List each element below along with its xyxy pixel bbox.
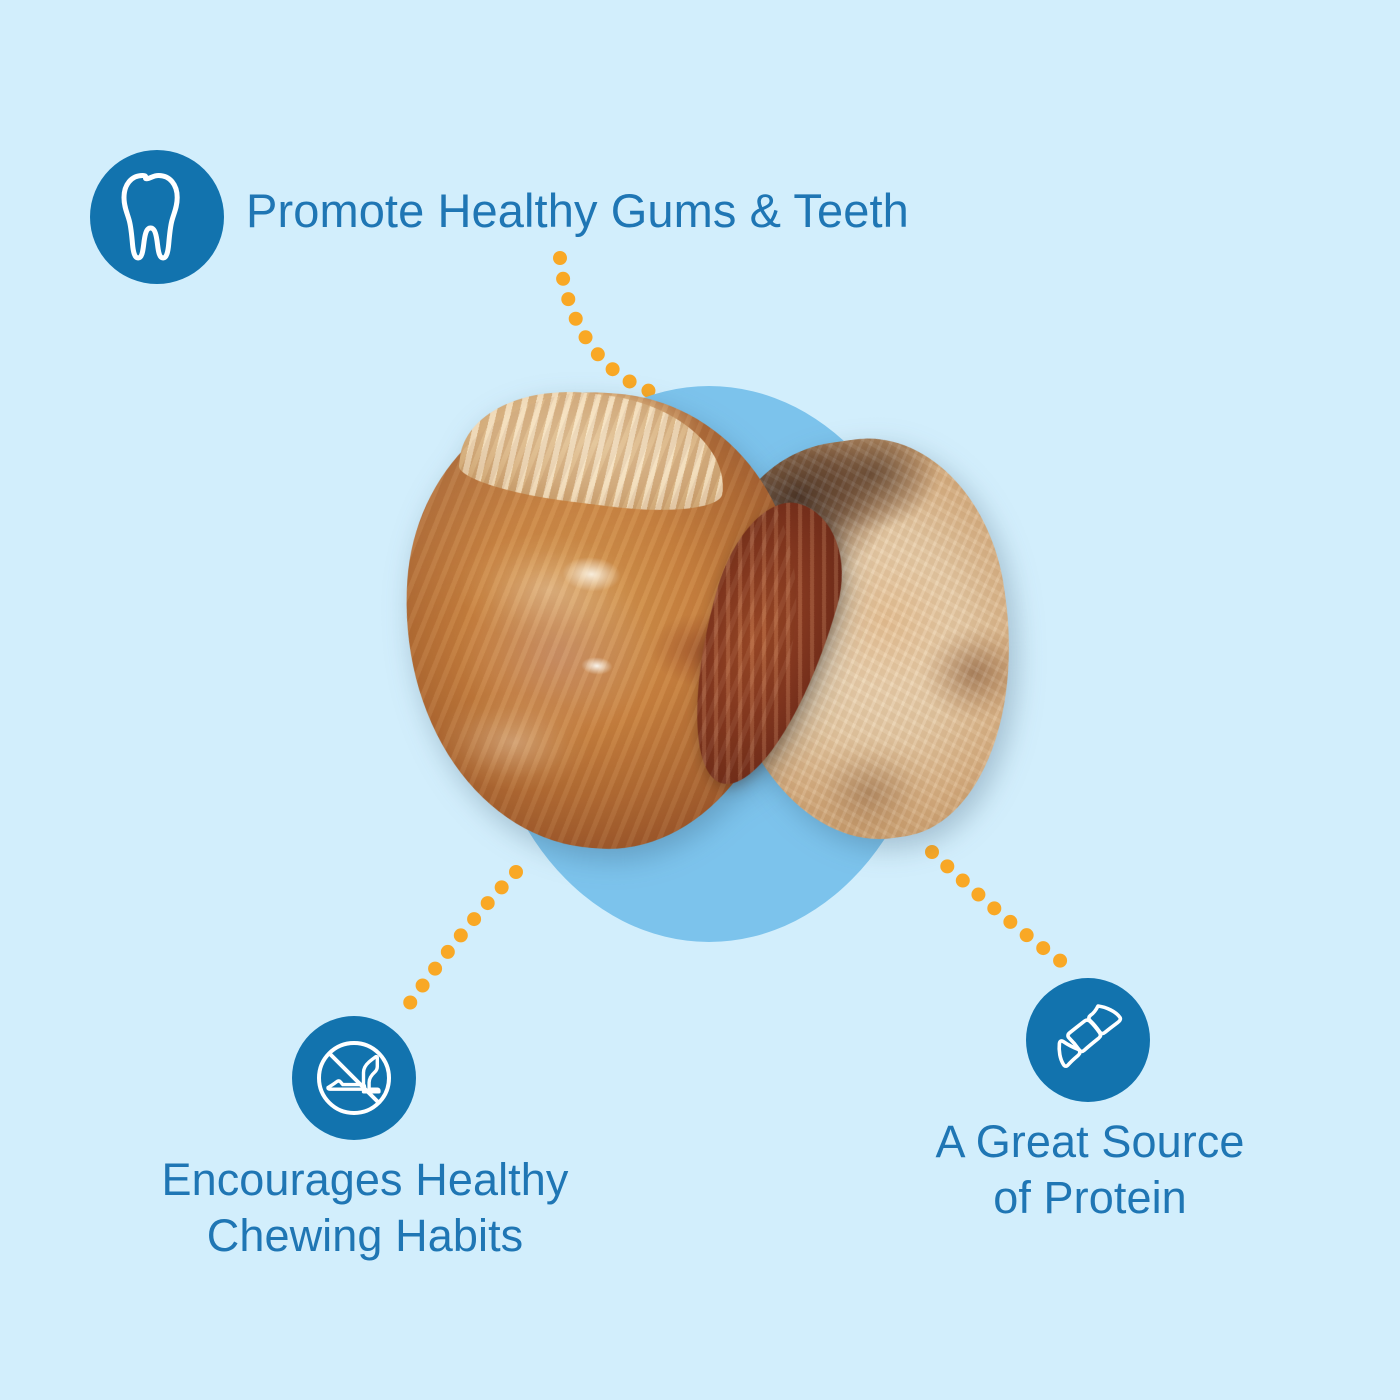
protein-helix-icon	[1046, 998, 1130, 1082]
connector-chewing-icon	[402, 872, 516, 1014]
no-shoes-icon	[311, 1035, 397, 1121]
connector-gums-icon	[560, 258, 652, 392]
feature-label-line: Promote Healthy Gums & Teeth	[246, 182, 909, 240]
chew-piece-amber	[390, 380, 811, 861]
feature-label-chewing-habits: Encourages Healthy Chewing Habits	[100, 1152, 630, 1264]
product-feature-infographic: Promote Healthy Gums & Teeth Encourages …	[0, 0, 1400, 1400]
feature-label-line: Chewing Habits	[100, 1208, 630, 1264]
feature-label-line: Encourages Healthy	[100, 1152, 630, 1208]
product-image	[395, 385, 1035, 885]
tooth-badge	[90, 150, 224, 284]
feature-label-line: of Protein	[885, 1170, 1295, 1226]
feature-label-line: A Great Source	[885, 1114, 1295, 1170]
feature-label-gums-teeth: Promote Healthy Gums & Teeth	[246, 182, 909, 240]
chew-top-rim	[456, 378, 732, 519]
chewing-badge	[292, 1016, 416, 1140]
tooth-icon	[118, 170, 196, 264]
protein-badge	[1026, 978, 1150, 1102]
feature-label-protein: A Great Source of Protein	[885, 1114, 1295, 1226]
